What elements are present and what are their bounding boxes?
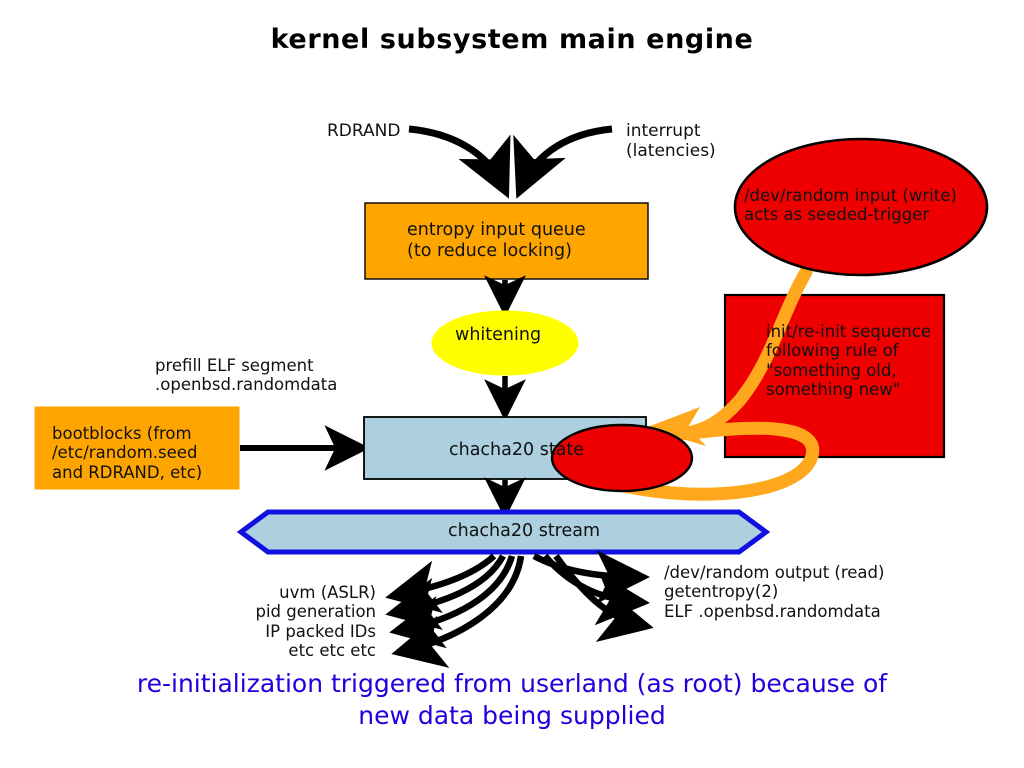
chacha20-state-label: chacha20 state — [449, 440, 584, 461]
label-interrupt: interrupt (latencies) — [626, 121, 716, 161]
diagram-canvas: kernel subsystem main engine — [0, 0, 1024, 768]
arrow-out-uvm — [398, 556, 494, 595]
arrow-rdrand-to-queue — [409, 129, 503, 186]
init-sequence-label: init/re-init sequence following rule of … — [766, 322, 931, 400]
dev-random-input-label: /dev/random input (write) acts as seeded… — [744, 186, 957, 225]
prefill-edge-label: prefill ELF segment .openbsd.randomdata — [155, 356, 337, 395]
bootblocks-label: bootblocks (from /etc/random.seed and RD… — [52, 424, 202, 482]
right-outputs-label: /dev/random output (read) getentropy(2) … — [664, 563, 884, 621]
left-outputs-label: uvm (ASLR) pid generation IP packed IDs … — [244, 583, 376, 661]
bottom-caption: re-initialization triggered from userlan… — [0, 668, 1024, 732]
arrow-interrupt-to-queue — [522, 129, 612, 186]
whitening-label: whitening — [455, 325, 541, 346]
chacha20-stream-label: chacha20 stream — [448, 521, 600, 542]
entropy-input-queue-label: entropy input queue (to reduce locking) — [407, 220, 586, 261]
label-rdrand: RDRAND — [327, 121, 400, 141]
